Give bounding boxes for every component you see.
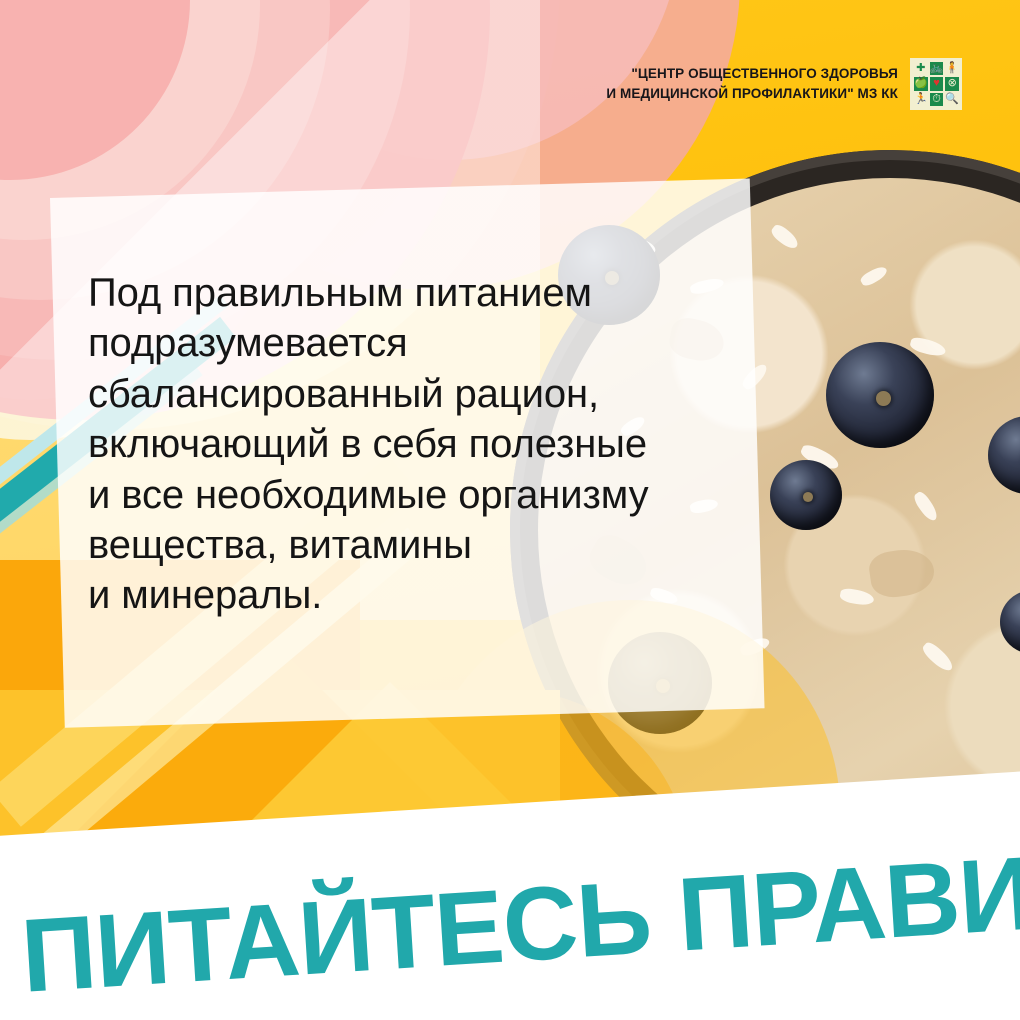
apple-icon: 🍏 bbox=[914, 77, 928, 90]
magnifier-icon: 🔍 bbox=[945, 93, 959, 106]
no-smoking-icon: ⊗ bbox=[945, 77, 959, 90]
runner-icon: 🏃 bbox=[914, 93, 928, 106]
person-icon: 🧍 bbox=[945, 62, 959, 75]
bicycle-icon: 🚲 bbox=[930, 62, 944, 75]
blueberry bbox=[770, 460, 842, 530]
blueberry bbox=[826, 342, 934, 448]
heart-icon: ♥ bbox=[930, 77, 944, 90]
organization-name: "ЦЕНТР ОБЩЕСТВЕННОГО ЗДОРОВЬЯ И МЕДИЦИНС… bbox=[606, 64, 898, 103]
poster-canvas: Под правильным питанием подразумевается … bbox=[0, 0, 1020, 1020]
medical-cross-icon: ✚ bbox=[914, 62, 928, 75]
stopwatch-icon: ⏱ bbox=[930, 93, 944, 106]
health-center-logo: ✚ 🚲 🧍 🍏 ♥ ⊗ 🏃 ⏱ 🔍 bbox=[910, 58, 962, 110]
message-card-text: Под правильным питанием подразумевается … bbox=[88, 268, 758, 621]
brand-block: "ЦЕНТР ОБЩЕСТВЕННОГО ЗДОРОВЬЯ И МЕДИЦИНС… bbox=[606, 58, 962, 110]
